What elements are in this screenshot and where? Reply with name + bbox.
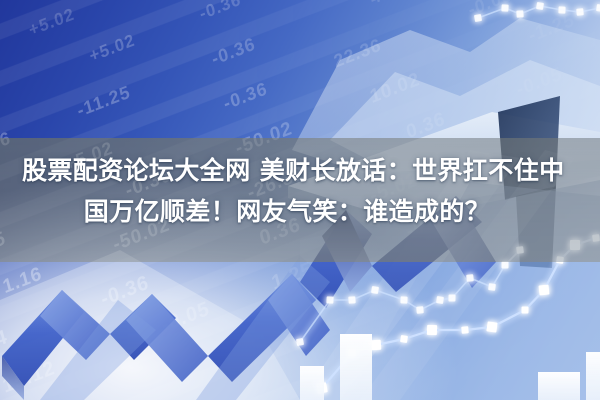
chart-node bbox=[326, 296, 333, 303]
ticker-value: -0.36 bbox=[209, 0, 373, 70]
chart-node bbox=[516, 10, 523, 17]
chart-node bbox=[556, 256, 564, 264]
chart-node bbox=[436, 296, 444, 304]
silhouette-bar bbox=[340, 334, 372, 400]
ticker-value: -0.35 bbox=[0, 47, 92, 127]
chart-node bbox=[570, 240, 580, 250]
ticker-value: -0.36 bbox=[221, 52, 337, 115]
chart-node bbox=[558, 6, 565, 13]
ticker-value: -11.25 bbox=[0, 21, 32, 92]
ticker-value: 4.36 bbox=[368, 0, 484, 9]
silhouette-bar bbox=[586, 352, 600, 400]
chart-node bbox=[400, 296, 407, 303]
chart-node bbox=[486, 321, 497, 332]
ticker-value: -0.05 bbox=[159, 273, 275, 338]
ticker-value: -0.36 bbox=[99, 229, 264, 312]
ticker-value: 2.14 bbox=[0, 289, 105, 363]
chart-node bbox=[371, 286, 379, 294]
ticker-value: -0.36 bbox=[197, 0, 337, 25]
chart-node bbox=[316, 382, 328, 394]
chart-node bbox=[416, 306, 424, 314]
ticker-value: +5.02 bbox=[87, 5, 202, 67]
chart-node bbox=[521, 306, 528, 313]
ticker-value: -11.25 bbox=[75, 50, 215, 122]
ticker-row: 02.3215.12-0.051.25-0.3602.32 bbox=[0, 77, 600, 400]
ticker-value: +5.02 bbox=[27, 0, 191, 41]
chart-node bbox=[592, 234, 600, 242]
ticker-value: -0.05 bbox=[514, 29, 600, 102]
chart-node bbox=[516, 246, 524, 254]
chart-node bbox=[371, 340, 382, 351]
chart-line bbox=[300, 250, 520, 342]
chart-node bbox=[576, 8, 584, 16]
chart-node bbox=[501, 4, 508, 11]
chart-line bbox=[478, 6, 600, 18]
ticker-value: 02.32 bbox=[0, 376, 6, 400]
chart-node bbox=[448, 294, 455, 301]
ticker-value: 22.36 bbox=[332, 1, 472, 73]
chart-node bbox=[461, 326, 469, 334]
chart-node bbox=[474, 14, 482, 22]
caption-line-1: 股票配资论坛大全网 美财长放话：世界扛不住中 bbox=[22, 150, 578, 191]
chart-node bbox=[502, 262, 509, 269]
ticker-value: 15.12 bbox=[0, 315, 165, 398]
stock-news-banner: -0.05-11.25+5.02-0.3621.35-0.05-0.05-0.3… bbox=[0, 0, 600, 400]
chart-node bbox=[348, 349, 355, 356]
chart-node bbox=[539, 285, 550, 296]
ticker-value: 1.25 bbox=[269, 222, 409, 296]
chart-node bbox=[596, 4, 600, 12]
ticker-value: -1.25 bbox=[527, 0, 600, 48]
ticker-value: -0.05 bbox=[466, 0, 600, 21]
chart-node bbox=[536, 2, 544, 10]
silhouette-bar bbox=[300, 366, 324, 400]
ticker-value: 10.02 bbox=[368, 27, 532, 109]
chart-node bbox=[466, 274, 474, 282]
chart-node bbox=[427, 325, 437, 335]
chart-node bbox=[400, 335, 408, 343]
chart-line bbox=[322, 238, 596, 388]
chart-node bbox=[488, 283, 496, 291]
caption-line-2: 国万亿顺差！网友气笑：谁造成的？ bbox=[22, 191, 578, 232]
caption-text-block: 股票配资论坛大全网 美财长放话：世界扛不住中 国万亿顺差！网友气笑：谁造成的？ bbox=[0, 150, 600, 232]
ticker-row: -0.05-11.25+5.02-0.3621.35-0.05 bbox=[0, 0, 600, 135]
ticker-value: -0.05 bbox=[0, 278, 6, 360]
ticker-value: 1.16 bbox=[1, 235, 117, 299]
chart-node bbox=[296, 338, 304, 346]
chart-node bbox=[348, 296, 355, 303]
silhouette-bar bbox=[538, 372, 580, 400]
ticker-value: 0.36 bbox=[404, 81, 520, 145]
ticker-value: -0.36 bbox=[502, 74, 600, 157]
